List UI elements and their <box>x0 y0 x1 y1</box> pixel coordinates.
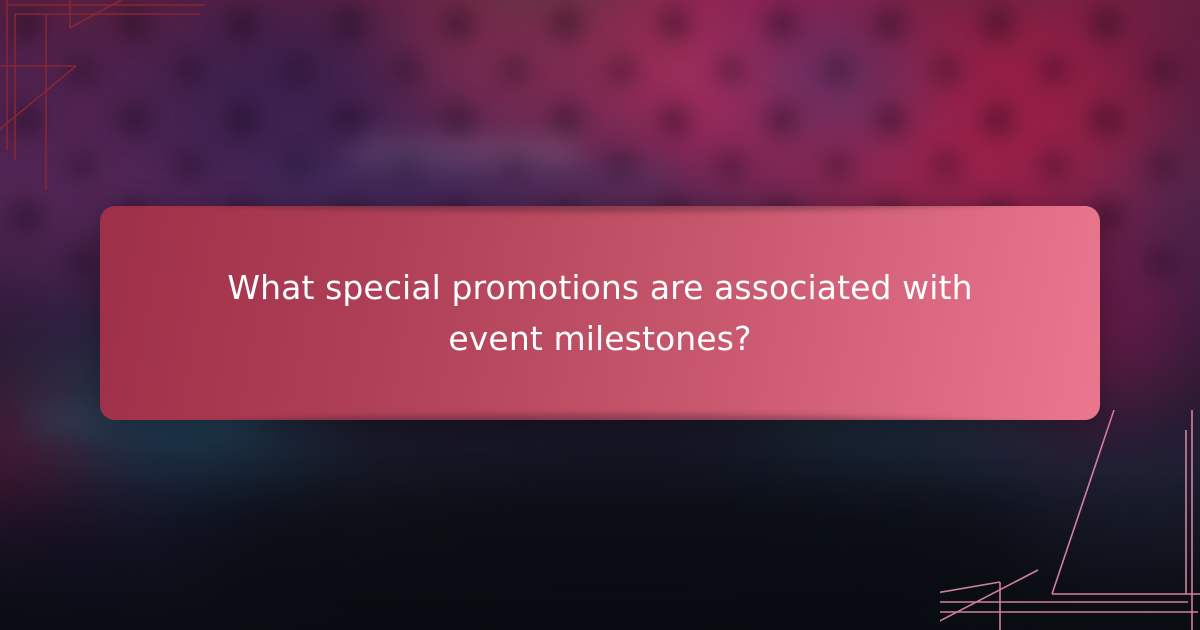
card-bottom-curve <box>100 414 1100 420</box>
card-top-curve <box>100 206 1100 212</box>
question-text: What special promotions are associated w… <box>200 262 1000 364</box>
question-card: What special promotions are associated w… <box>100 206 1100 420</box>
